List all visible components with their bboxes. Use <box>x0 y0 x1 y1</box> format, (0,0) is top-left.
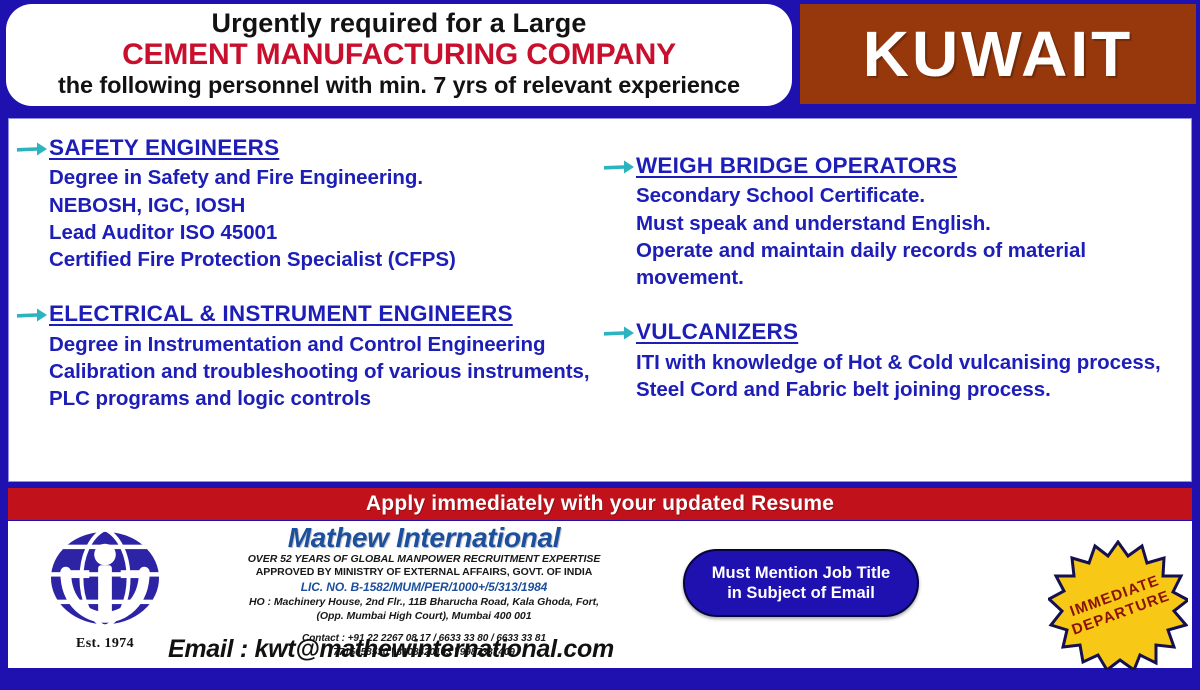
job-requirement: Degree in Safety and Fire Engineering. <box>49 164 594 191</box>
poster-footer: Est. 1974 Mathew International OVER 52 Y… <box>8 521 1192 668</box>
job-body: VULCANIZERS ITI with knowledge of Hot & … <box>636 317 1183 403</box>
poster-header: Urgently required for a Large CEMENT MAN… <box>0 0 1200 110</box>
job-requirement: Degree in Instrumentation and Control En… <box>49 331 594 358</box>
job-requirement: Calibration and troubleshooting of vario… <box>49 358 594 413</box>
header-company-type: CEMENT MANUFACTURING COMPANY <box>122 39 676 71</box>
job-listings-panel: SAFETY ENGINEERS Degree in Safety and Fi… <box>8 118 1192 482</box>
job-entry-safety-engineers: SAFETY ENGINEERS Degree in Safety and Fi… <box>15 133 594 273</box>
company-address-line-2: (Opp. Mumbai High Court), Mumbai 400 001 <box>194 610 654 624</box>
globe-figure-logo-icon <box>46 527 164 635</box>
job-requirement: Certified Fire Protection Specialist (CF… <box>49 246 594 273</box>
job-body: ELECTRICAL & INSTRUMENT ENGINEERS Degree… <box>49 299 594 412</box>
subject-instruction-line-2: in Subject of Email <box>727 583 875 603</box>
subject-instruction-line-1: Must Mention Job Title <box>712 563 890 583</box>
spacer <box>15 277 594 299</box>
subject-instruction-badge: Must Mention Job Title in Subject of Ema… <box>683 549 919 617</box>
arrow-right-icon <box>15 133 49 157</box>
established-year: Est. 1974 <box>30 636 180 652</box>
job-title: ELECTRICAL & INSTRUMENT ENGINEERS <box>49 299 594 328</box>
country-banner: KUWAIT <box>800 4 1196 104</box>
job-column-left: SAFETY ENGINEERS Degree in Safety and Fi… <box>9 119 602 481</box>
job-title: WEIGH BRIDGE OPERATORS <box>636 151 1183 180</box>
company-address-line-1: HO : Machinery House, 2nd Flr., 11B Bhar… <box>194 596 654 610</box>
job-requirement: Operate and maintain daily records of ma… <box>636 237 1183 292</box>
spacer <box>602 295 1183 317</box>
header-line-1: Urgently required for a Large <box>212 10 587 38</box>
company-license: LIC. NO. B-1582/MUM/PER/1000+/5/313/1984 <box>194 580 654 596</box>
job-requirement: Must speak and understand English. <box>636 210 1183 237</box>
job-entry-vulcanizers: VULCANIZERS ITI with knowledge of Hot & … <box>602 317 1183 403</box>
apply-banner-text: Apply immediately with your updated Resu… <box>366 492 834 516</box>
company-logo: Est. 1974 <box>30 527 180 665</box>
job-body: WEIGH BRIDGE OPERATORS Secondary School … <box>636 151 1183 291</box>
company-tagline: OVER 52 YEARS OF GLOBAL MANPOWER RECRUIT… <box>194 553 654 566</box>
job-columns: SAFETY ENGINEERS Degree in Safety and Fi… <box>9 119 1191 481</box>
job-advertisement-poster: Urgently required for a Large CEMENT MAN… <box>0 0 1200 675</box>
job-body: SAFETY ENGINEERS Degree in Safety and Fi… <box>49 133 594 273</box>
company-approval: APPROVED BY MINISTRY OF EXTERNAL AFFAIRS… <box>194 566 654 579</box>
job-requirement: ITI with knowledge of Hot & Cold vulcani… <box>636 349 1183 404</box>
apply-banner: Apply immediately with your updated Resu… <box>8 488 1192 520</box>
arrow-right-icon <box>15 299 49 323</box>
country-label: KUWAIT <box>863 22 1133 86</box>
job-entry-electrical-instrument-engineers: ELECTRICAL & INSTRUMENT ENGINEERS Degree… <box>15 299 594 412</box>
job-title: SAFETY ENGINEERS <box>49 133 594 162</box>
job-entry-weigh-bridge-operators: WEIGH BRIDGE OPERATORS Secondary School … <box>602 151 1183 291</box>
job-requirement: Secondary School Certificate. <box>636 182 1183 209</box>
immediate-departure-badge: IMMEDIATE DEPARTURE <box>1048 540 1188 670</box>
arrow-right-icon <box>602 317 636 341</box>
header-experience-note: the following personnel with min. 7 yrs … <box>58 73 740 98</box>
header-title-card: Urgently required for a Large CEMENT MAN… <box>6 4 792 106</box>
company-name: Mathew International <box>194 523 654 553</box>
job-requirement: Lead Auditor ISO 45001 <box>49 219 594 246</box>
job-title: VULCANIZERS <box>636 317 1183 346</box>
arrow-right-icon <box>602 151 636 175</box>
company-email[interactable]: Email : kwt@mathewinternational.com <box>168 635 688 664</box>
job-requirement: NEBOSH, IGC, IOSH <box>49 192 594 219</box>
job-column-right: WEIGH BRIDGE OPERATORS Secondary School … <box>602 119 1191 481</box>
